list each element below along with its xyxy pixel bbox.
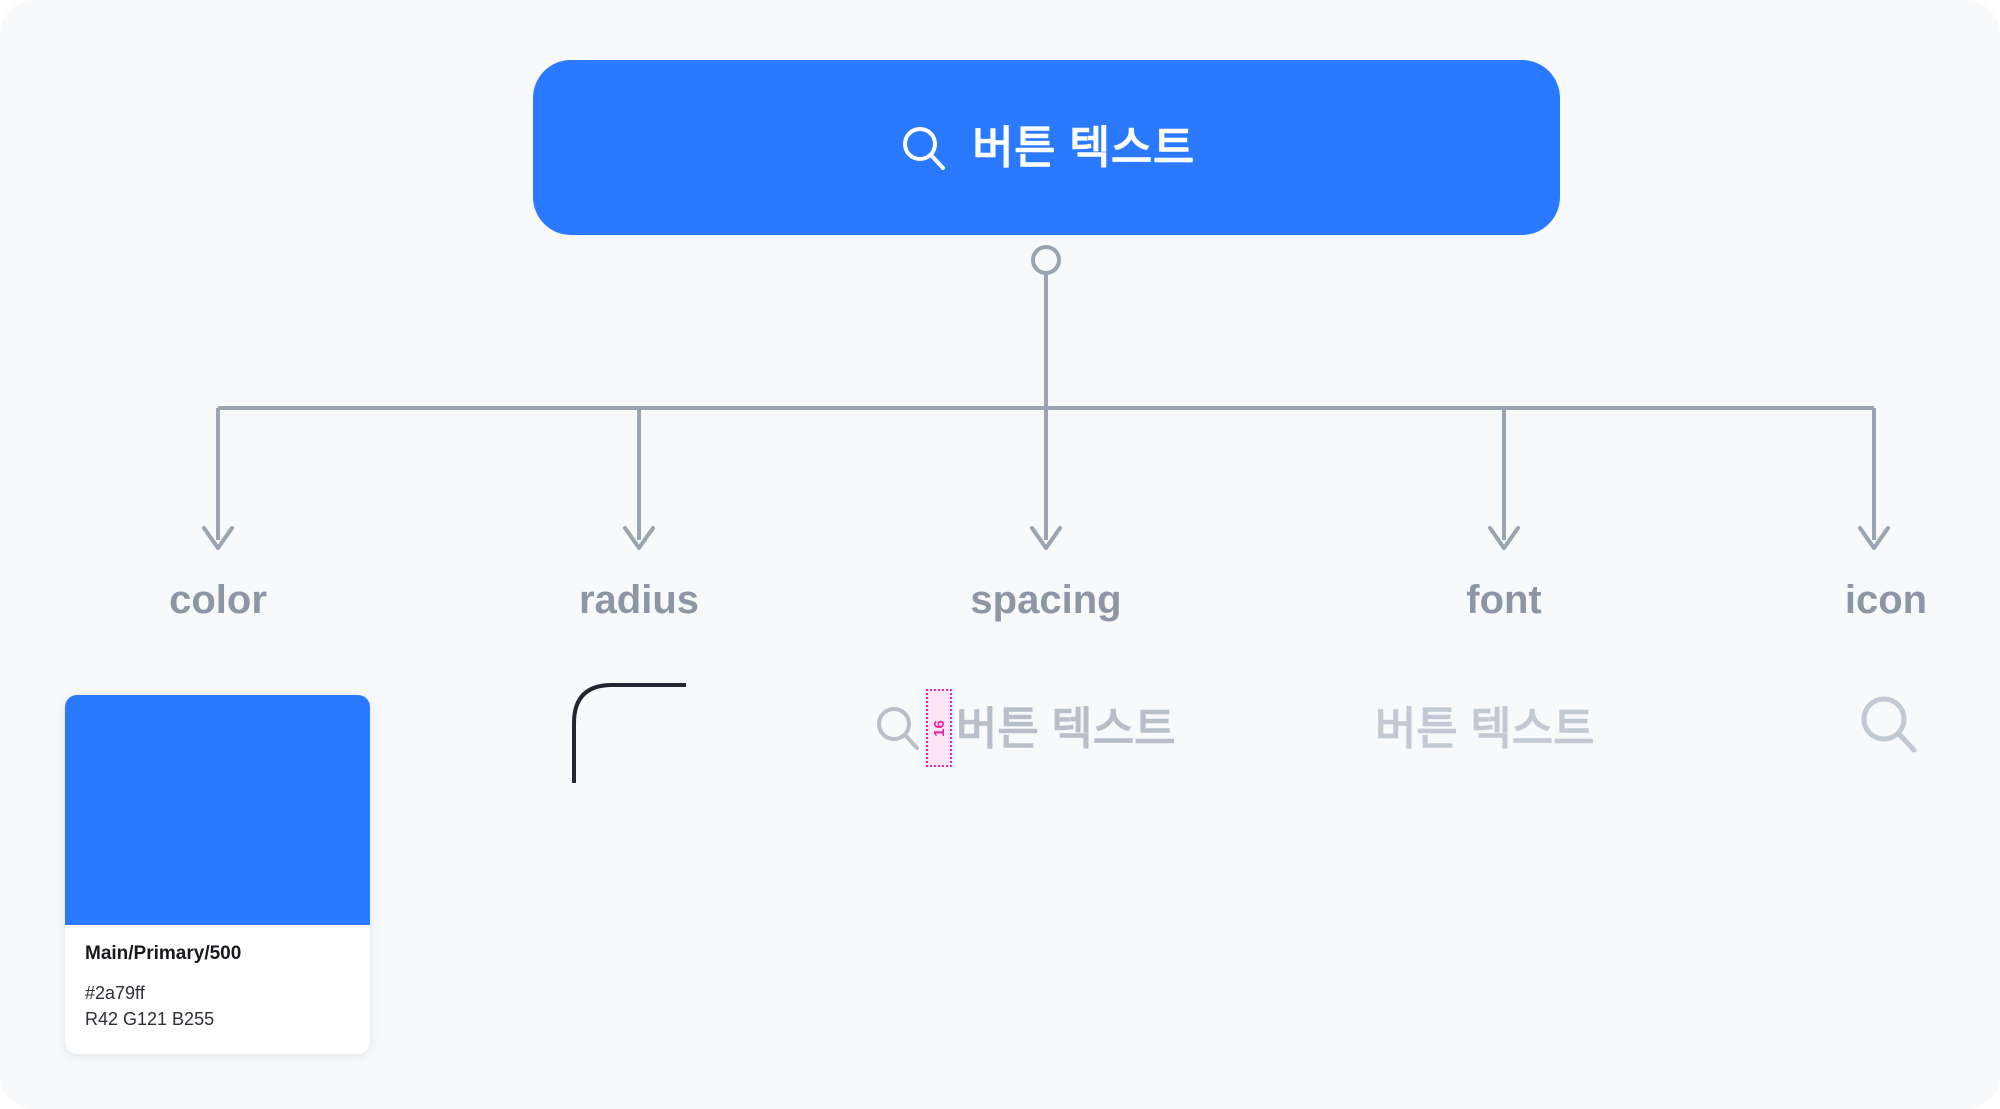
connector-arrow-icon (1860, 528, 1888, 548)
spacing-sample-label: 버튼 텍스트 (956, 706, 1176, 751)
connector-arrow-font (1490, 528, 1518, 548)
icon-sample (1855, 690, 1923, 758)
color-token-name: Main/Primary/500 (85, 943, 350, 966)
category-label-icon: icon (1845, 580, 1927, 620)
root-button-label: 버튼 텍스트 (972, 125, 1195, 170)
category-label-color: color (169, 580, 267, 620)
connector-arrow-spacing (1032, 528, 1060, 548)
connector-arrow-radius (625, 528, 653, 548)
category-label-radius: radius (579, 580, 699, 620)
category-label-spacing: spacing (970, 580, 1121, 620)
color-swatch-meta: Main/Primary/500 #2a79ff R42 G121 B255 (65, 925, 370, 1054)
root-button[interactable]: 버튼 텍스트 (533, 60, 1560, 235)
font-sample: 버튼 텍스트 (1375, 688, 1595, 768)
category-label-font: font (1466, 580, 1542, 620)
search-icon (872, 702, 924, 754)
color-rgb-value: R42 G121 B255 (85, 1006, 350, 1032)
color-hex-value: #2a79ff (85, 980, 350, 1006)
color-swatch-fill (65, 695, 370, 925)
font-sample-label: 버튼 텍스트 (1375, 706, 1595, 751)
spacing-gap-marker: 16 (926, 689, 952, 767)
rounded-corner-icon (570, 675, 690, 785)
spacing-gap-value: 16 (932, 720, 947, 737)
connector-arrow-color (204, 528, 232, 548)
spacing-sample: 16 버튼 텍스트 (872, 688, 1176, 768)
radius-sample (570, 675, 690, 785)
color-swatch-card[interactable]: Main/Primary/500 #2a79ff R42 G121 B255 (65, 695, 370, 1054)
search-icon (898, 122, 950, 174)
diagram-canvas: 버튼 텍스트 col (0, 0, 2000, 1109)
search-icon (1855, 690, 1923, 758)
connector-node-circle (1033, 247, 1059, 273)
